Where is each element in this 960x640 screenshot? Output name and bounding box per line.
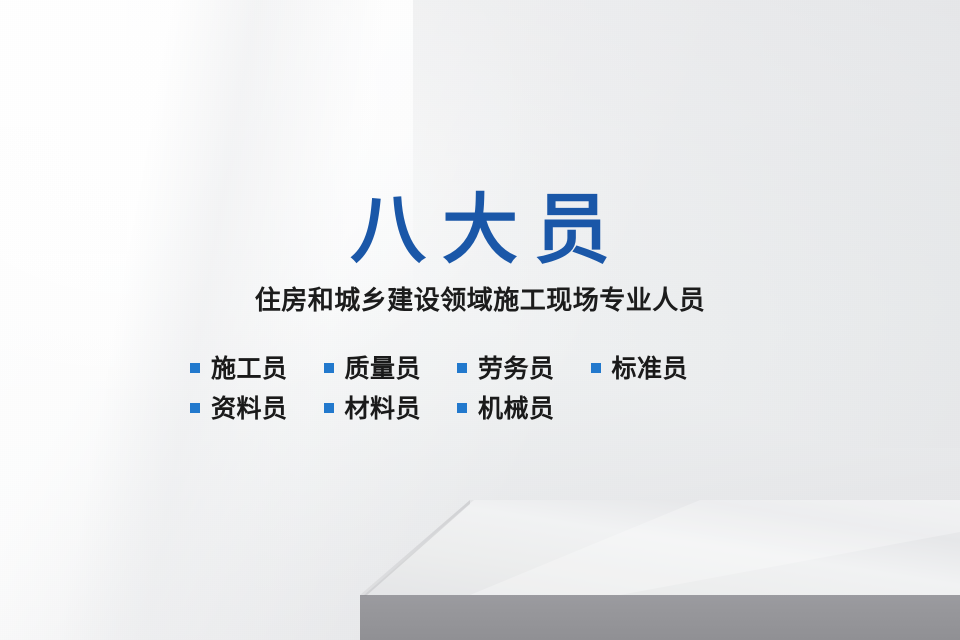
square-bullet-icon [591, 363, 601, 373]
role-row-1: 施工员 质量员 劳务员 标准员 [190, 348, 790, 388]
role-item-jixieyuan: 机械员 [457, 396, 555, 421]
square-bullet-icon [190, 403, 200, 413]
role-item-laowuyuan: 劳务员 [457, 356, 555, 381]
role-row-2: 资料员 材料员 机械员 [190, 388, 790, 428]
poster-canvas: 八大员 住房和城乡建设领域施工现场专业人员 施工员 质量员 劳务员 [0, 0, 960, 640]
role-item-ziliaoyuan: 资料员 [190, 396, 288, 421]
role-label: 标准员 [612, 356, 689, 381]
role-label: 劳务员 [478, 356, 555, 381]
role-item-biaozhunyuan: 标准员 [591, 356, 689, 381]
square-bullet-icon [324, 363, 334, 373]
square-bullet-icon [457, 403, 467, 413]
square-bullet-icon [324, 403, 334, 413]
role-label: 施工员 [211, 356, 288, 381]
role-label: 质量员 [345, 356, 422, 381]
role-list: 施工员 质量员 劳务员 标准员 资料员 [190, 348, 790, 428]
role-item-zhiliangyuan: 质量员 [324, 356, 422, 381]
role-label: 资料员 [211, 396, 288, 421]
page-subtitle: 住房和城乡建设领域施工现场专业人员 [0, 288, 960, 314]
square-bullet-icon [190, 363, 200, 373]
role-item-cailiaoyuan: 材料员 [324, 396, 422, 421]
poster-content: 八大员 住房和城乡建设领域施工现场专业人员 施工员 质量员 劳务员 [0, 0, 960, 490]
role-label: 材料员 [345, 396, 422, 421]
square-bullet-icon [457, 363, 467, 373]
page-title: 八大员 [0, 192, 960, 268]
role-label: 机械员 [478, 396, 555, 421]
role-item-shigongyuan: 施工员 [190, 356, 288, 381]
